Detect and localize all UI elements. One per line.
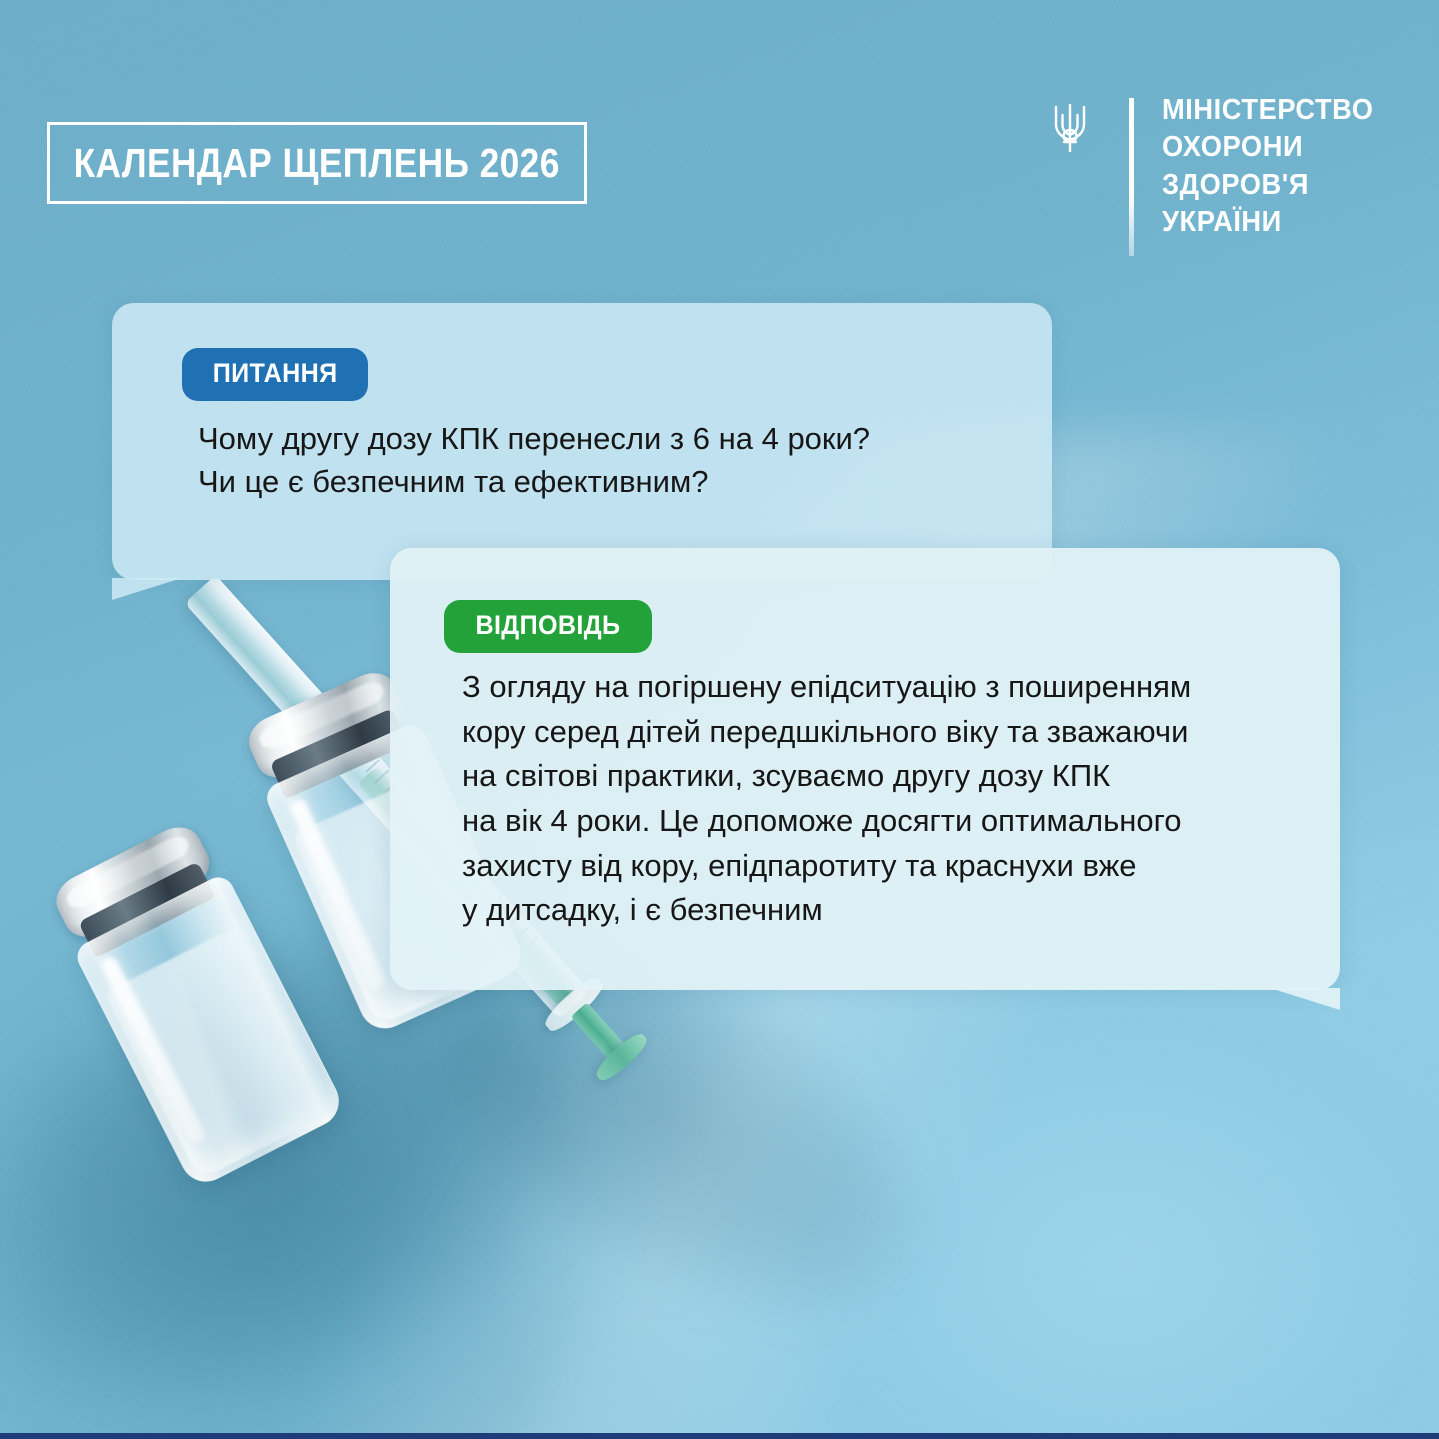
question-bubble-tail [112,578,182,600]
logo-divider [1129,98,1134,256]
ministry-line-3: ЗДОРОВ'Я [1162,167,1374,204]
answer-badge: ВІДПОВІДЬ [444,600,652,653]
question-text: Чому другу дозу КПК перенесли з 6 на 4 р… [198,418,1018,504]
question-badge: ПИТАННЯ [182,348,368,401]
footer-bar [0,1433,1439,1439]
question-badge-label: ПИТАННЯ [213,358,338,389]
ministry-line-1: МІНІСТЕРСТВО [1162,92,1374,129]
ministry-name: МІНІСТЕРСТВО ОХОРОНИ ЗДОРОВ'Я УКРАЇНИ [1162,92,1387,242]
ministry-line-2: ОХОРОНИ [1162,129,1374,166]
answer-badge-label: ВІДПОВІДЬ [475,610,620,641]
ministry-line-4: УКРАЇНИ [1162,204,1374,241]
infographic-poster: КАЛЕНДАР ЩЕПЛЕНЬ 2026 МІНІСТЕРСТВО ОХОРО… [0,0,1439,1439]
page-title: КАЛЕНДАР ЩЕПЛЕНЬ 2026 [74,140,560,187]
answer-text: З огляду на погіршену епідситуацію з пош… [462,665,1292,933]
answer-bubble-tail [1270,988,1340,1010]
page-title-box: КАЛЕНДАР ЩЕПЛЕНЬ 2026 [47,122,587,204]
ministry-logo: МІНІСТЕРСТВО ОХОРОНИ ЗДОРОВ'Я УКРАЇНИ [1047,92,1387,256]
ukraine-tryzub-icon [1047,98,1093,158]
